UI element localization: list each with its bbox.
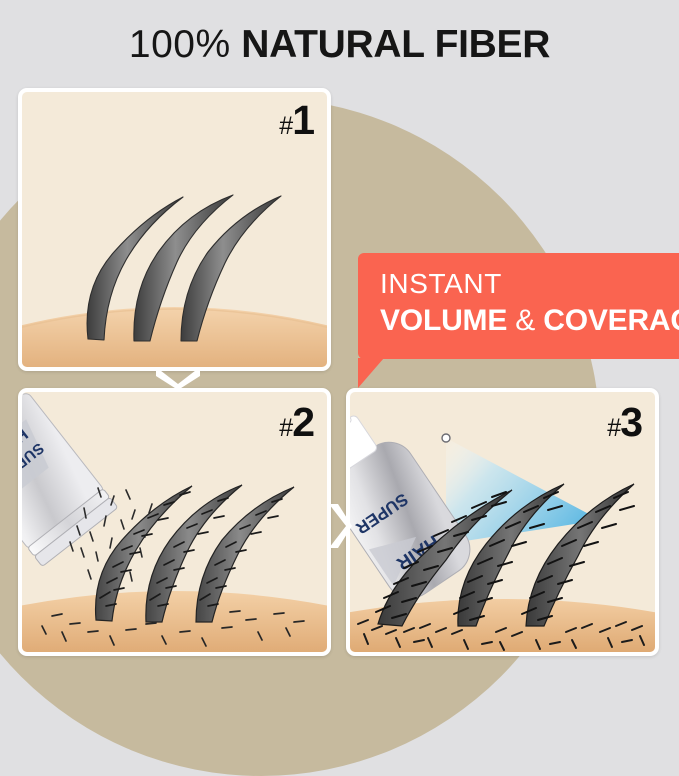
callout-text-block: INSTANT VOLUME & COVERAGE <box>380 267 679 339</box>
scalp-2 <box>22 591 327 652</box>
step-digit-3: 3 <box>620 399 642 445</box>
step-panel-3: SUPER HAIR <box>346 388 659 656</box>
step-hash-3: # <box>607 414 620 442</box>
step-hash-1: # <box>279 112 292 140</box>
callout-volume: VOLUME <box>380 304 507 337</box>
infographic-root: 100% NATURAL FIBER <box>0 0 679 679</box>
step-hash-2: # <box>279 414 292 442</box>
callout-line-1: INSTANT <box>380 267 679 300</box>
step-panel-2: SUPER MILLION HAIR <box>18 388 331 656</box>
page-title: 100% NATURAL FIBER <box>0 22 679 68</box>
step-panel-1: #1 <box>18 88 331 371</box>
callout-coverage: COVERAGE <box>543 304 679 337</box>
callout-tail <box>358 358 384 388</box>
title-main: NATURAL FIBER <box>241 23 550 66</box>
fiber-bottle-2: SUPER MILLION HAIR <box>22 392 118 597</box>
title-percent: 100% <box>129 23 231 66</box>
step-digit-1: 1 <box>292 97 314 143</box>
scalp-1 <box>22 307 327 367</box>
step-number-3: #3 <box>607 402 642 443</box>
flow-arrow-right-icon <box>326 500 352 552</box>
spray-nozzle <box>442 434 450 442</box>
step-number-2: #2 <box>279 402 314 443</box>
instant-volume-callout: INSTANT VOLUME & COVERAGE <box>358 253 679 359</box>
flow-arrow-down-icon <box>152 364 204 390</box>
callout-line-2: VOLUME & COVERAGE <box>380 302 679 339</box>
callout-ampersand: & <box>515 304 535 337</box>
step-digit-2: 2 <box>292 399 314 445</box>
step-number-1: #1 <box>279 100 314 141</box>
